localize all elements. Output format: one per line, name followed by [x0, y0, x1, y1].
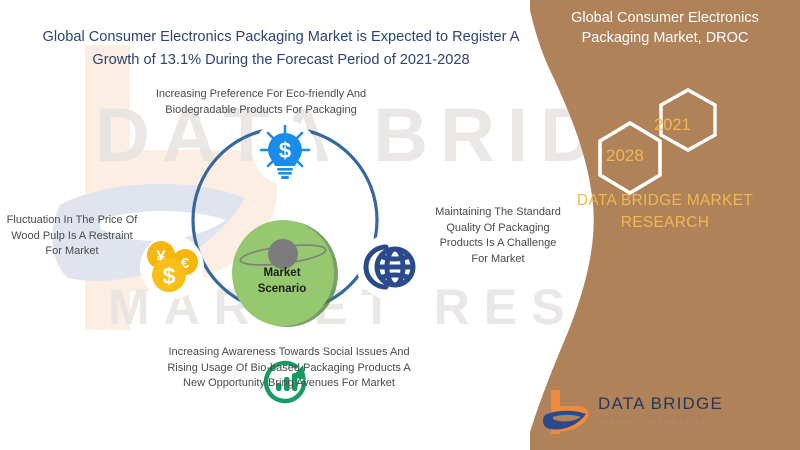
svg-text:$: $ — [279, 138, 291, 163]
globe-icon — [361, 239, 417, 295]
right-panel-title: Global Consumer Electronics Packaging Ma… — [542, 8, 788, 48]
droc-diagram: Market Scenario $ — [0, 60, 570, 450]
center-label-line2: Scenario — [232, 281, 332, 297]
hex-2028-label: 2028 — [606, 146, 644, 166]
brand-logo[interactable]: DATA BRIDGE MARKET RESEARCH — [542, 388, 722, 438]
node-restraint[interactable]: ¥ € $ — [140, 235, 204, 299]
brand-logo-tagline: MARKET RESEARCH — [599, 415, 705, 422]
right-panel-brand: DATA BRIDGE MARKET RESEARCH — [548, 190, 782, 234]
node-driver[interactable]: $ — [253, 120, 317, 184]
hexagon-shapes — [588, 85, 728, 197]
node-restraint-label: Fluctuation In The Price Of Wood Pulp Is… — [3, 213, 141, 260]
svg-text:$: $ — [163, 263, 176, 289]
infographic-page: DATA BRIDGE MARKET RESEARCH Global Consu… — [0, 0, 800, 450]
node-opportunity-label: Increasing Awareness Towards Social Issu… — [165, 345, 413, 392]
hexagon-group: 2021 2028 — [588, 85, 728, 197]
currency-coins-icon: ¥ € $ — [142, 239, 202, 295]
center-label: Market Scenario — [232, 265, 332, 297]
hex-2021-label: 2021 — [654, 116, 691, 135]
node-challenge[interactable] — [357, 235, 421, 299]
node-driver-label: Increasing Preference For Eco-friendly A… — [146, 87, 376, 118]
data-bridge-b-logo-icon — [542, 388, 594, 436]
lightbulb-dollar-icon: $ — [256, 123, 314, 181]
center-label-line1: Market — [232, 265, 332, 281]
brand-logo-name: DATA BRIDGE — [598, 394, 723, 414]
right-panel: Global Consumer Electronics Packaging Ma… — [530, 0, 800, 450]
